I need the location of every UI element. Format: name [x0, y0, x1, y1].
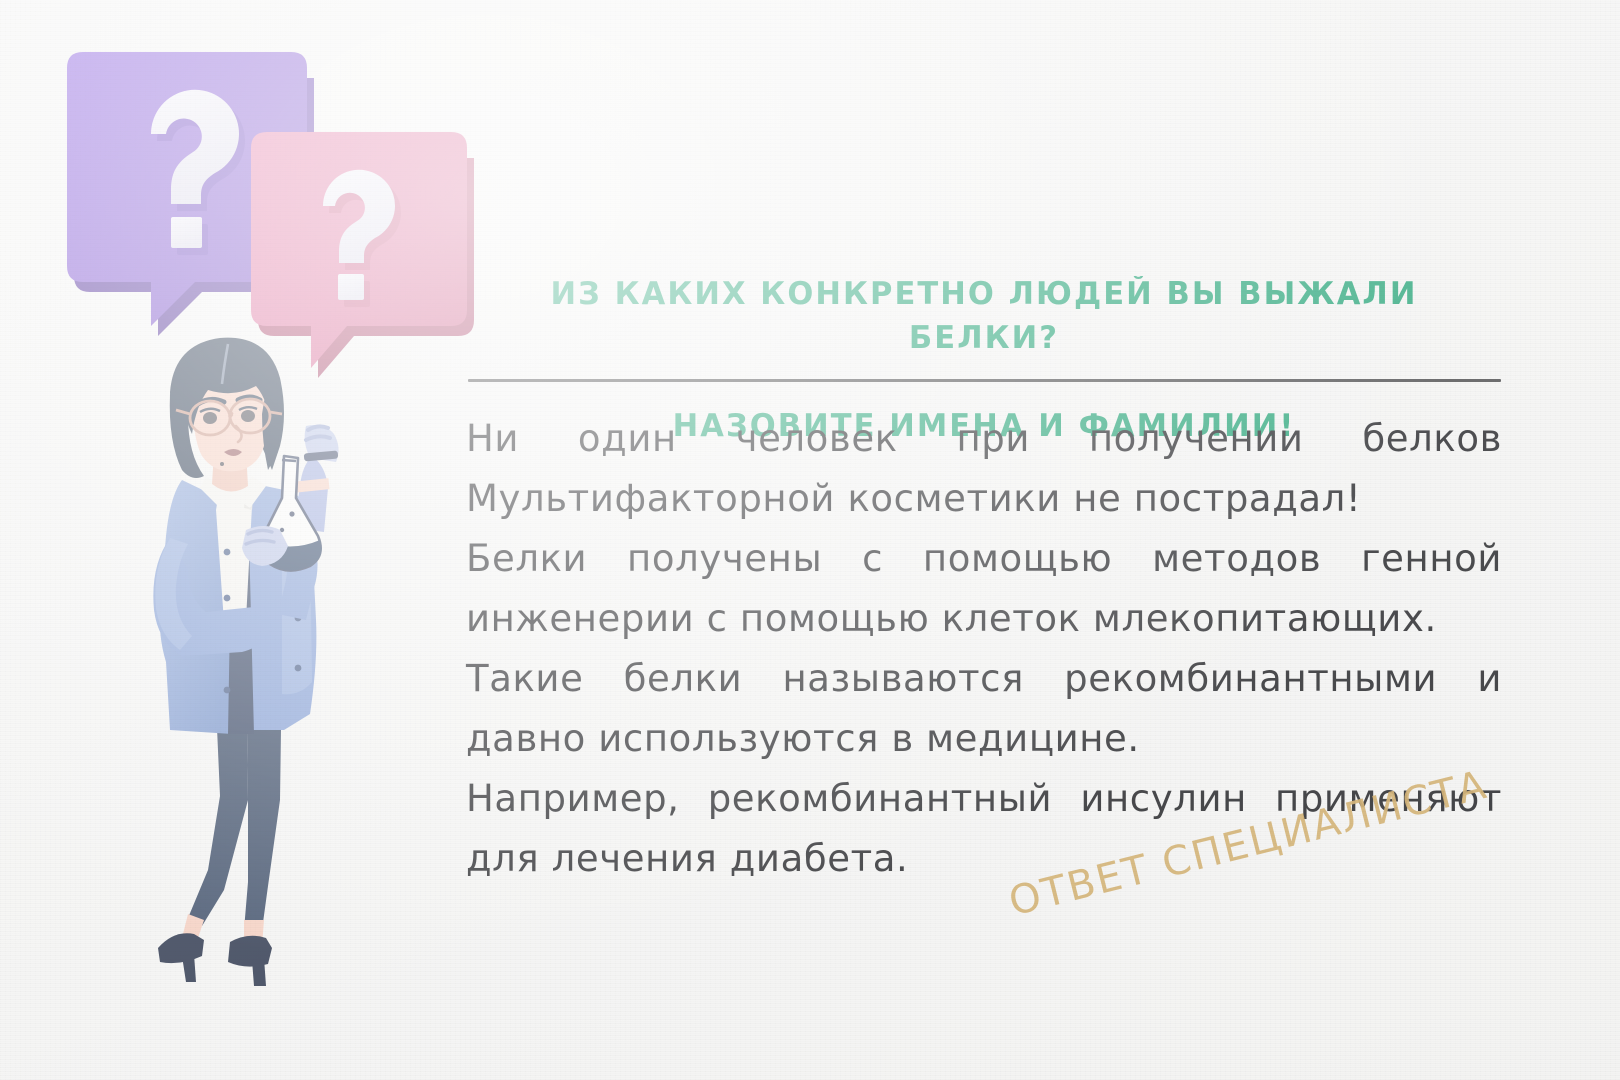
- headline-line-1: Из каких конкретно людей вы выжали белки…: [474, 272, 1494, 360]
- content-column: Из каких конкретно людей вы выжали белки…: [466, 0, 1502, 1080]
- divider-rule: [468, 379, 1501, 382]
- shoes: [158, 933, 272, 986]
- poster-canvas: Из каких конкретно людей вы выжали белки…: [0, 0, 1620, 1080]
- answer-paragraph: Такие белки называются рекомбинантными и…: [466, 649, 1502, 769]
- answer-paragraph: Ни один человек при получении белков Мул…: [466, 409, 1502, 529]
- scientist-illustration: [96, 330, 396, 995]
- speech-bubbles-illustration: [55, 38, 485, 368]
- bubble-pink: [251, 132, 474, 378]
- answer-paragraph: Белки получены с помощью методов генной …: [466, 529, 1502, 649]
